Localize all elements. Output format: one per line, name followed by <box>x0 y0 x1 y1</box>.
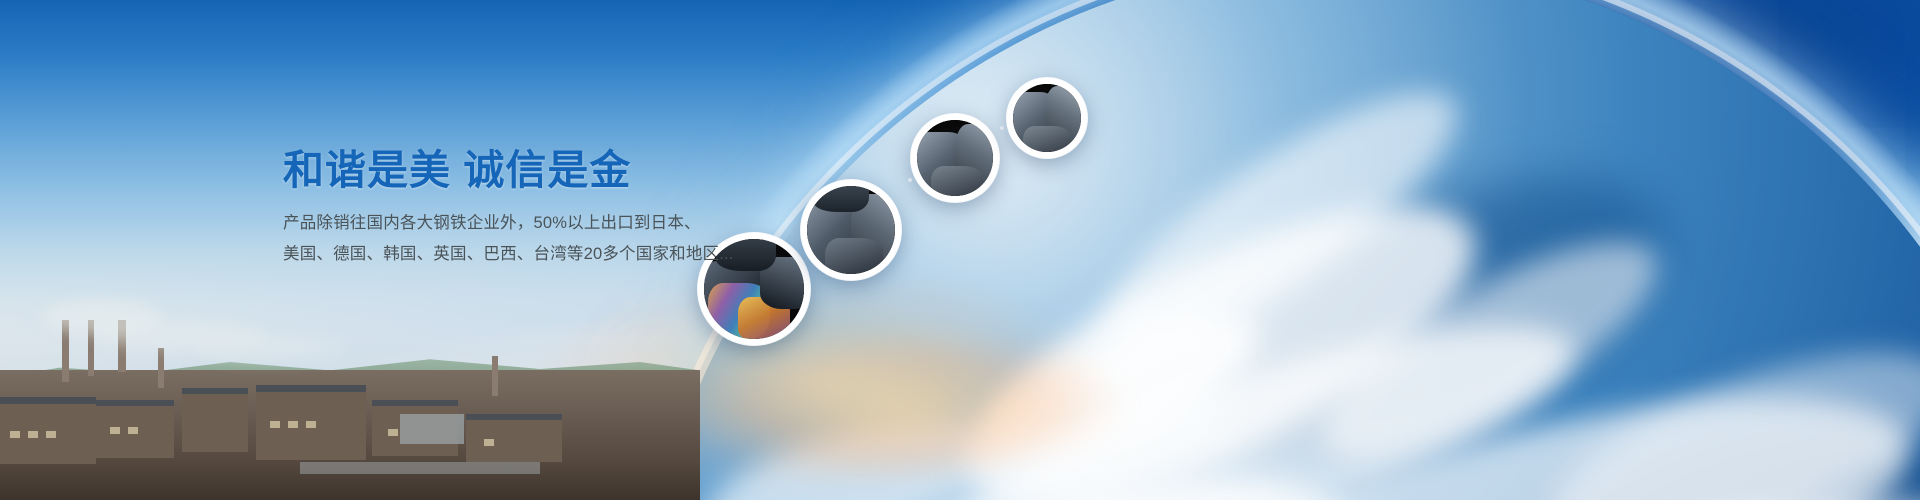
plant-building <box>182 392 248 452</box>
ore-thumbnail-3-image <box>917 120 993 196</box>
ore-rock <box>825 238 883 274</box>
plant-roof <box>96 400 174 406</box>
smoke-stack <box>158 348 164 388</box>
plant-conveyor <box>300 462 540 474</box>
plant-window <box>128 427 138 434</box>
connector-dot <box>1000 126 1004 130</box>
plant-window <box>270 421 280 428</box>
banner-headline: 和谐是美 诚信是金 <box>283 148 743 194</box>
ore-rock <box>1023 126 1071 152</box>
plant-roof <box>372 400 458 406</box>
plant-silo <box>400 414 464 444</box>
plant-window <box>110 427 120 434</box>
ore-rock <box>813 186 869 212</box>
plant-window <box>388 429 398 436</box>
plant-building <box>466 418 562 462</box>
plant-roof <box>182 388 248 394</box>
plant-roof <box>256 385 366 392</box>
banner-subcopy-line-2: 美国、德国、韩国、英国、巴西、台湾等20多个国家和地区... <box>283 239 743 270</box>
plant-window <box>46 431 56 438</box>
plant-window <box>306 421 316 428</box>
plant-window <box>288 421 298 428</box>
ore-thumbnail-3[interactable] <box>911 114 999 202</box>
banner-hero: 和谐是美 诚信是金 产品除销往国内各大钢铁企业外，50%以上出口到日本、 美国、… <box>0 0 1920 500</box>
industrial-plant-photo <box>0 270 700 500</box>
ore-thumbnail-4[interactable] <box>1007 78 1087 158</box>
connector-dot <box>908 178 912 182</box>
plant-window <box>28 431 38 438</box>
ore-thumbnail-2[interactable] <box>801 180 901 280</box>
banner-subcopy: 产品除销往国内各大钢铁企业外，50%以上出口到日本、 美国、德国、韩国、英国、巴… <box>283 208 743 270</box>
banner-copy: 和谐是美 诚信是金 产品除销往国内各大钢铁企业外，50%以上出口到日本、 美国、… <box>283 148 743 270</box>
plant-roof <box>466 414 562 420</box>
ore-thumbnail-4-image <box>1013 84 1081 152</box>
smoke-stack <box>492 356 498 396</box>
ore-rock <box>931 166 983 196</box>
smoke-plume <box>196 336 346 362</box>
ore-thumbnail-2-image <box>807 186 895 274</box>
plant-window <box>10 431 20 438</box>
plant-window <box>484 439 494 446</box>
plant-roof <box>0 397 96 404</box>
banner-subcopy-line-1: 产品除销往国内各大钢铁企业外，50%以上出口到日本、 <box>283 208 743 239</box>
